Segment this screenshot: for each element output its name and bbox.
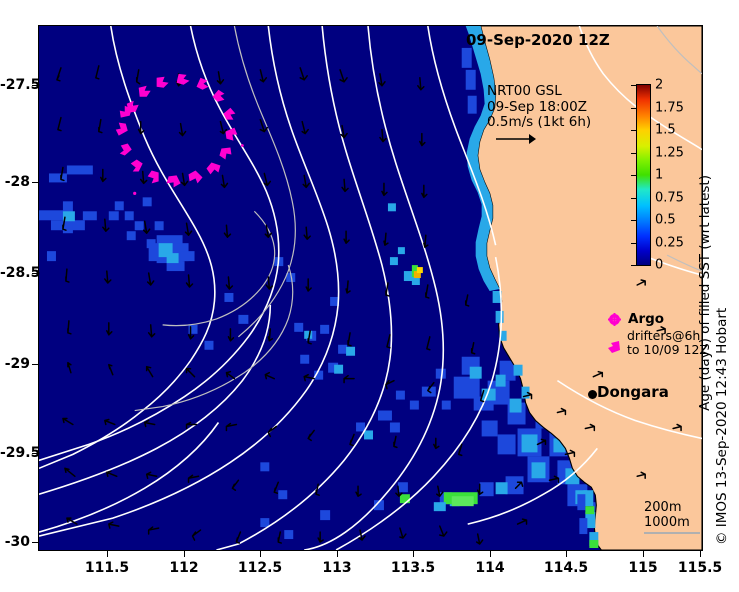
colorbar: 2 1.75 1.5 1.25 1 0.75 0.5 0.25 0 Age (d… xyxy=(636,84,651,266)
colorbar-tick-label: 0 xyxy=(655,258,663,273)
annotation-line-3: 0.5m/s (1kt 6h) xyxy=(487,115,591,131)
drifter-marker-icon xyxy=(608,329,622,359)
city-label-dongara: Dongara xyxy=(597,383,669,401)
x-tick-label: 115 xyxy=(628,560,657,576)
x-tick xyxy=(413,551,414,557)
x-tick xyxy=(700,551,701,557)
legend-drifters-line1: drifters@6h xyxy=(627,328,700,343)
map-plot-area[interactable] xyxy=(38,25,703,551)
y-tick-label: -28.5 xyxy=(0,265,30,281)
colorbar-tick-label: 1 xyxy=(655,168,663,183)
depth-scale-bar: 200m 1000m xyxy=(644,500,700,534)
colorbar-gradient xyxy=(636,84,651,266)
argo-marker-icon xyxy=(608,313,621,326)
annotation-line-1: NRT00 GSL xyxy=(487,84,591,100)
x-tick xyxy=(107,551,108,557)
colorbar-tick-label: 1.75 xyxy=(655,100,684,115)
y-tick xyxy=(32,182,38,183)
x-tick-label: 112.5 xyxy=(238,560,282,576)
legend-drifters-line2: to 10/09 12Z xyxy=(627,342,708,357)
colorbar-tick-label: 0.25 xyxy=(655,235,684,250)
x-tick xyxy=(643,551,644,557)
x-tick-label: 111.5 xyxy=(85,560,129,576)
sst-age-raster xyxy=(39,26,702,550)
y-tick-label: -30 xyxy=(0,534,30,550)
map-date-title: 09-Sep-2020 12Z xyxy=(466,31,610,49)
y-tick-label: -29.5 xyxy=(0,445,30,461)
scalebar-label-200m: 200m xyxy=(644,500,700,515)
colorbar-title: Age (days) of filled SST (wrt latest) xyxy=(697,175,713,411)
scalebar-label-1000m: 1000m xyxy=(644,515,700,530)
x-tick-label: 113.5 xyxy=(391,560,435,576)
copyright-text: © IMOS 13-Sep-2020 12:43 Hobart xyxy=(714,308,730,545)
x-tick-label: 114.5 xyxy=(544,560,588,576)
colorbar-tick-label: 1.25 xyxy=(655,145,684,160)
city-dot-icon xyxy=(588,390,597,399)
colorbar-tick-label: 0.75 xyxy=(655,190,684,205)
y-tick-label: -27.5 xyxy=(0,77,30,93)
model-annotation-block: NRT00 GSL 09-Sep 18:00Z 0.5m/s (1kt 6h) xyxy=(487,84,591,131)
colorbar-tick-label: 1.5 xyxy=(655,123,676,138)
x-tick xyxy=(184,551,185,557)
scalebar-line xyxy=(644,532,700,534)
x-tick-label: 112 xyxy=(169,560,198,576)
colorbar-tick-label: 2 xyxy=(655,78,663,93)
x-tick xyxy=(337,551,338,557)
x-tick-label: 113 xyxy=(322,560,351,576)
x-tick xyxy=(260,551,261,557)
legend-label-argo: Argo xyxy=(628,312,664,327)
x-tick-label: 115.5 xyxy=(678,560,722,576)
legend-label-drifters: drifters@6h to 10/09 12Z xyxy=(627,329,708,358)
x-tick xyxy=(566,551,567,557)
y-tick-label: -29 xyxy=(0,356,30,372)
y-tick-label: -28 xyxy=(0,174,30,190)
y-tick xyxy=(32,542,38,543)
velocity-scale-arrow-icon xyxy=(495,132,537,146)
annotation-line-2: 09-Sep 18:00Z xyxy=(487,100,591,116)
x-tick xyxy=(490,551,491,557)
x-tick-label: 114 xyxy=(475,560,504,576)
colorbar-tick-label: 0.5 xyxy=(655,213,676,228)
y-tick xyxy=(32,364,38,365)
